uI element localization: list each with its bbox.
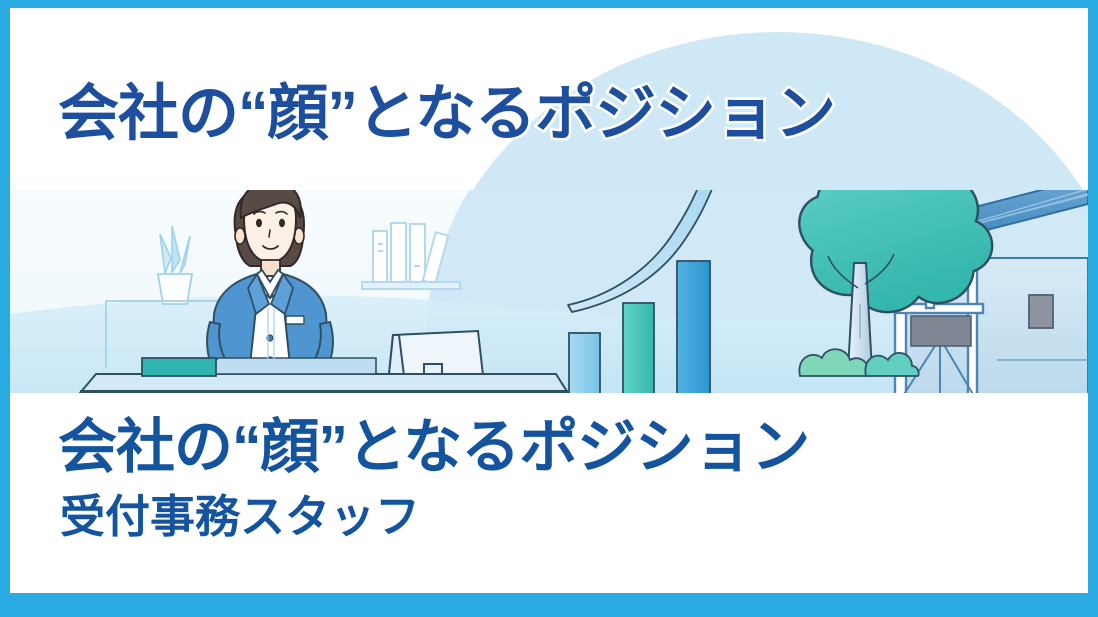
page-title-top: 会社の“顔”となるポジション [58,83,1058,144]
bar-3 [677,261,710,393]
bottom-text-block: 会社の“顔”となるポジション 受付事務スタッフ [10,394,1088,593]
page-title-bottom: 会社の“顔”となるポジション [58,418,1068,477]
bar-1 [569,333,600,393]
bar-2 [623,303,654,393]
top-headline-band: 会社の“顔”となるポジション [10,8,1088,190]
name-badge [286,316,304,324]
job-role-subtitle: 受付事務スタッフ [60,494,420,539]
poster-card: 会社の“顔”となるポジション 会社の“顔”となるポジション 受付事務スタッフ [10,8,1088,593]
accent-border-frame: 会社の“顔”となるポジション 会社の“顔”となるポジション 受付事務スタッフ [0,0,1098,617]
